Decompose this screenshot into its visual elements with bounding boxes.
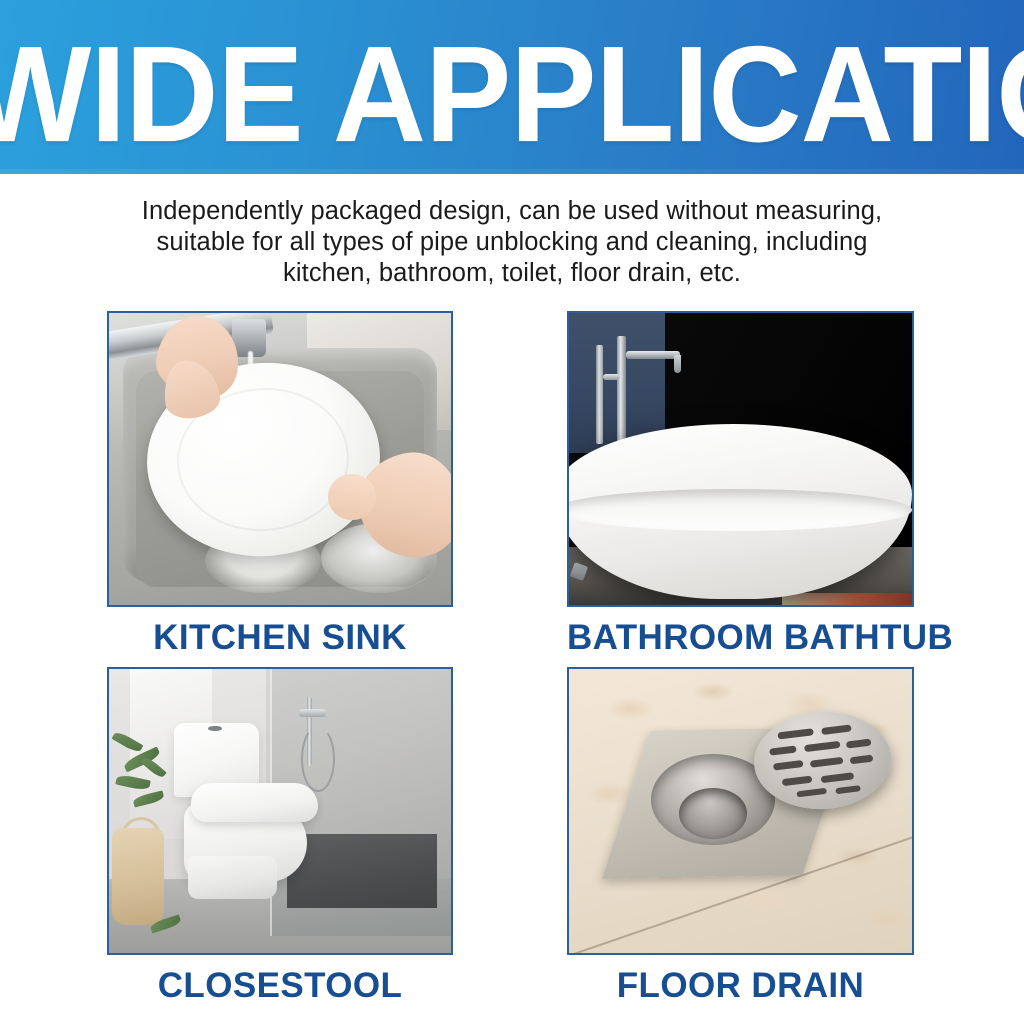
- caption-floor-drain: FLOOR DRAIN: [527, 966, 954, 1006]
- shower-mixer-icon: [299, 709, 326, 718]
- toilet-seat-icon: [191, 783, 318, 823]
- kitchen-sink-photo: [107, 311, 453, 607]
- closestool-photo: [107, 667, 453, 955]
- description-line-1: Independently packaged design, can be us…: [112, 196, 912, 227]
- toilet-base-icon: [188, 856, 277, 899]
- description-line-2: suitable for all types of pipe unblockin…: [112, 227, 912, 258]
- bathtub-photo: [567, 311, 914, 607]
- banner-underline: [0, 169, 1024, 174]
- page-title: WIDE APPLICATION: [0, 28, 1024, 160]
- tub-spout-tip-icon: [674, 355, 682, 373]
- caption-kitchen-sink: KITCHEN SINK: [67, 618, 493, 658]
- floor-drain-photo: [567, 667, 914, 955]
- faucet-riser-icon: [596, 345, 602, 444]
- caption-closestool: CLOSESTOOL: [67, 966, 493, 1006]
- bathtub-inner-rim-icon: [567, 489, 912, 531]
- header-banner: WIDE APPLICATION: [0, 0, 1024, 169]
- description-line-3: kitchen, bathroom, toilet, floor drain, …: [112, 258, 912, 289]
- wood-floor-strip-icon: [782, 593, 912, 605]
- shower-pan-icon: [287, 834, 437, 908]
- caption-bathroom-bathtub: BATHROOM BATHTUB: [527, 618, 954, 658]
- tub-handle-icon: [603, 374, 620, 380]
- shower-hose-icon: [301, 726, 336, 792]
- wide-application-infographic: { "banner": { "title": "WIDE APPLICATION…: [0, 0, 1024, 1024]
- faucet-column-icon: [617, 336, 626, 447]
- woven-basket-icon: [112, 828, 163, 925]
- tub-spout-icon: [626, 351, 681, 359]
- description-text: Independently packaged design, can be us…: [112, 196, 912, 289]
- hand-lower-fingers-icon: [328, 474, 376, 521]
